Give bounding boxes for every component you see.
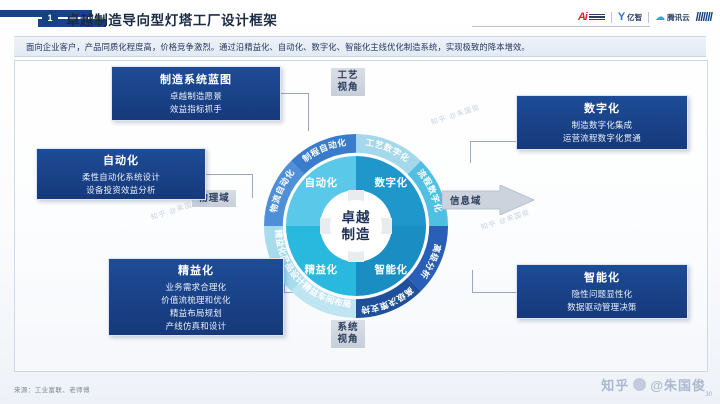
yizhuang-logo: Y 亿智 (618, 11, 642, 23)
box-title: 数字化 (584, 100, 620, 116)
box-line: 隐性问题显性化 (572, 288, 633, 301)
header: 1 卓越制造导向型灯塔工厂设计框架 Ai Y 亿智 ☁ 腾讯云 /////// (0, 0, 720, 32)
box-intelligence[interactable]: 智能化 隐性问题显性化 数据驱动管理决策 (516, 264, 688, 319)
watermark-brand: 知乎 (601, 375, 629, 394)
header-index-badge: 1 (42, 10, 58, 26)
box-line: 卓越制造愿景 (170, 90, 222, 103)
box-line: 业务需求合理化 (166, 281, 227, 294)
watermark-zhihu: 知乎 @朱国俊 (601, 375, 706, 394)
tag-information-domain: 信息域 (450, 193, 482, 207)
box-title: 制造系统蓝图 (160, 71, 232, 87)
box-line: 运营流程数字化贯通 (563, 132, 641, 145)
box-automation[interactable]: 自动化 柔性自动化系统设计 设备投资效益分析 (36, 148, 206, 200)
subtitle-text: 面向企业客户，产品同质化程度高，价格竞争激烈。通过沿精益化、自动化、数字化、智能… (14, 41, 530, 53)
header-slash-decoration: /////// (696, 10, 712, 24)
slide-canvas: 1 卓越制造导向型灯塔工厂设计框架 Ai Y 亿智 ☁ 腾讯云 /////// … (0, 0, 720, 404)
box-title: 智能化 (584, 269, 620, 285)
yizhuang-logo-mark: Y (618, 11, 625, 23)
header-underline (472, 26, 650, 27)
inner-label-digitalization: 数字化 (374, 176, 408, 189)
watermark-user: @朱国俊 (650, 375, 706, 394)
connector-blueprint (281, 93, 309, 94)
core-label-line2: 制造 (342, 226, 371, 243)
box-line: 柔性自动化系统设计 (82, 171, 160, 184)
connector-digital (470, 141, 516, 142)
ai-logo-lines-icon (589, 14, 605, 21)
box-title: 自动化 (103, 152, 139, 168)
box-digitalization[interactable]: 数字化 制造数字化集成 运营流程数字化贯通 (516, 95, 688, 150)
tag-system-perspective: 系统 视角 (331, 320, 365, 348)
logo-divider (611, 12, 612, 23)
inner-label-intelligence: 智能化 (374, 263, 408, 276)
source-note: 来源：工业富联、老师傅 (14, 384, 90, 394)
box-line: 设备投资效益分析 (86, 184, 155, 197)
box-lean[interactable]: 精益化 业务需求合理化 价值流梳理和优化 精益布局规划 产线仿真和设计 (108, 258, 284, 336)
tag-system-line2: 视角 (337, 334, 358, 346)
core-label-line1: 卓越 (342, 209, 371, 226)
tag-craft-line1: 工艺 (337, 70, 358, 82)
connector-intelligent (472, 292, 516, 293)
information-domain-arrow: 信息域 (442, 185, 536, 215)
ai-logo-mark: Ai (578, 11, 587, 23)
header-logo-group: Ai Y 亿智 ☁ 腾讯云 /////// (578, 7, 712, 27)
tag-craft-line2: 视角 (337, 82, 358, 94)
box-line: 价值流梳理和优化 (161, 294, 230, 307)
inner-label-lean: 精益化 (305, 263, 338, 276)
page-number: 30 (705, 392, 712, 398)
tag-craft-perspective: 工艺 视角 (331, 68, 365, 96)
avatar (633, 378, 646, 391)
tag-system-line1: 系统 (337, 322, 358, 334)
logo-divider (648, 12, 649, 23)
tencent-cloud-logo: ☁ 腾讯云 (655, 12, 690, 23)
tencent-cloud-logo-text: 腾讯云 (667, 12, 690, 23)
box-title: 精益化 (178, 262, 214, 278)
box-line: 精益布局规划 (170, 307, 222, 320)
box-line: 效益指标抓手 (170, 103, 222, 116)
box-line: 数据驱动管理决策 (567, 301, 636, 314)
inner-label-automation: 自动化 (305, 176, 338, 189)
box-manufacturing-system-blueprint[interactable]: 制造系统蓝图 卓越制造愿景 效益指标抓手 (111, 66, 281, 121)
yizhuang-logo-text: 亿智 (627, 12, 642, 23)
ai-logo: Ai (578, 11, 605, 23)
wheel-core-label: 卓越 制造 (316, 196, 396, 256)
subtitle-bar: 面向企业客户，产品同质化程度高，价格竞争激烈。通过沿精益化、自动化、数字化、智能… (14, 36, 706, 57)
page-title: 卓越制造导向型灯塔工厂设计框架 (66, 9, 278, 29)
box-line: 制造数字化集成 (572, 119, 633, 132)
cloud-icon: ☁ (655, 12, 665, 23)
box-line: 产线仿真和设计 (166, 320, 227, 333)
